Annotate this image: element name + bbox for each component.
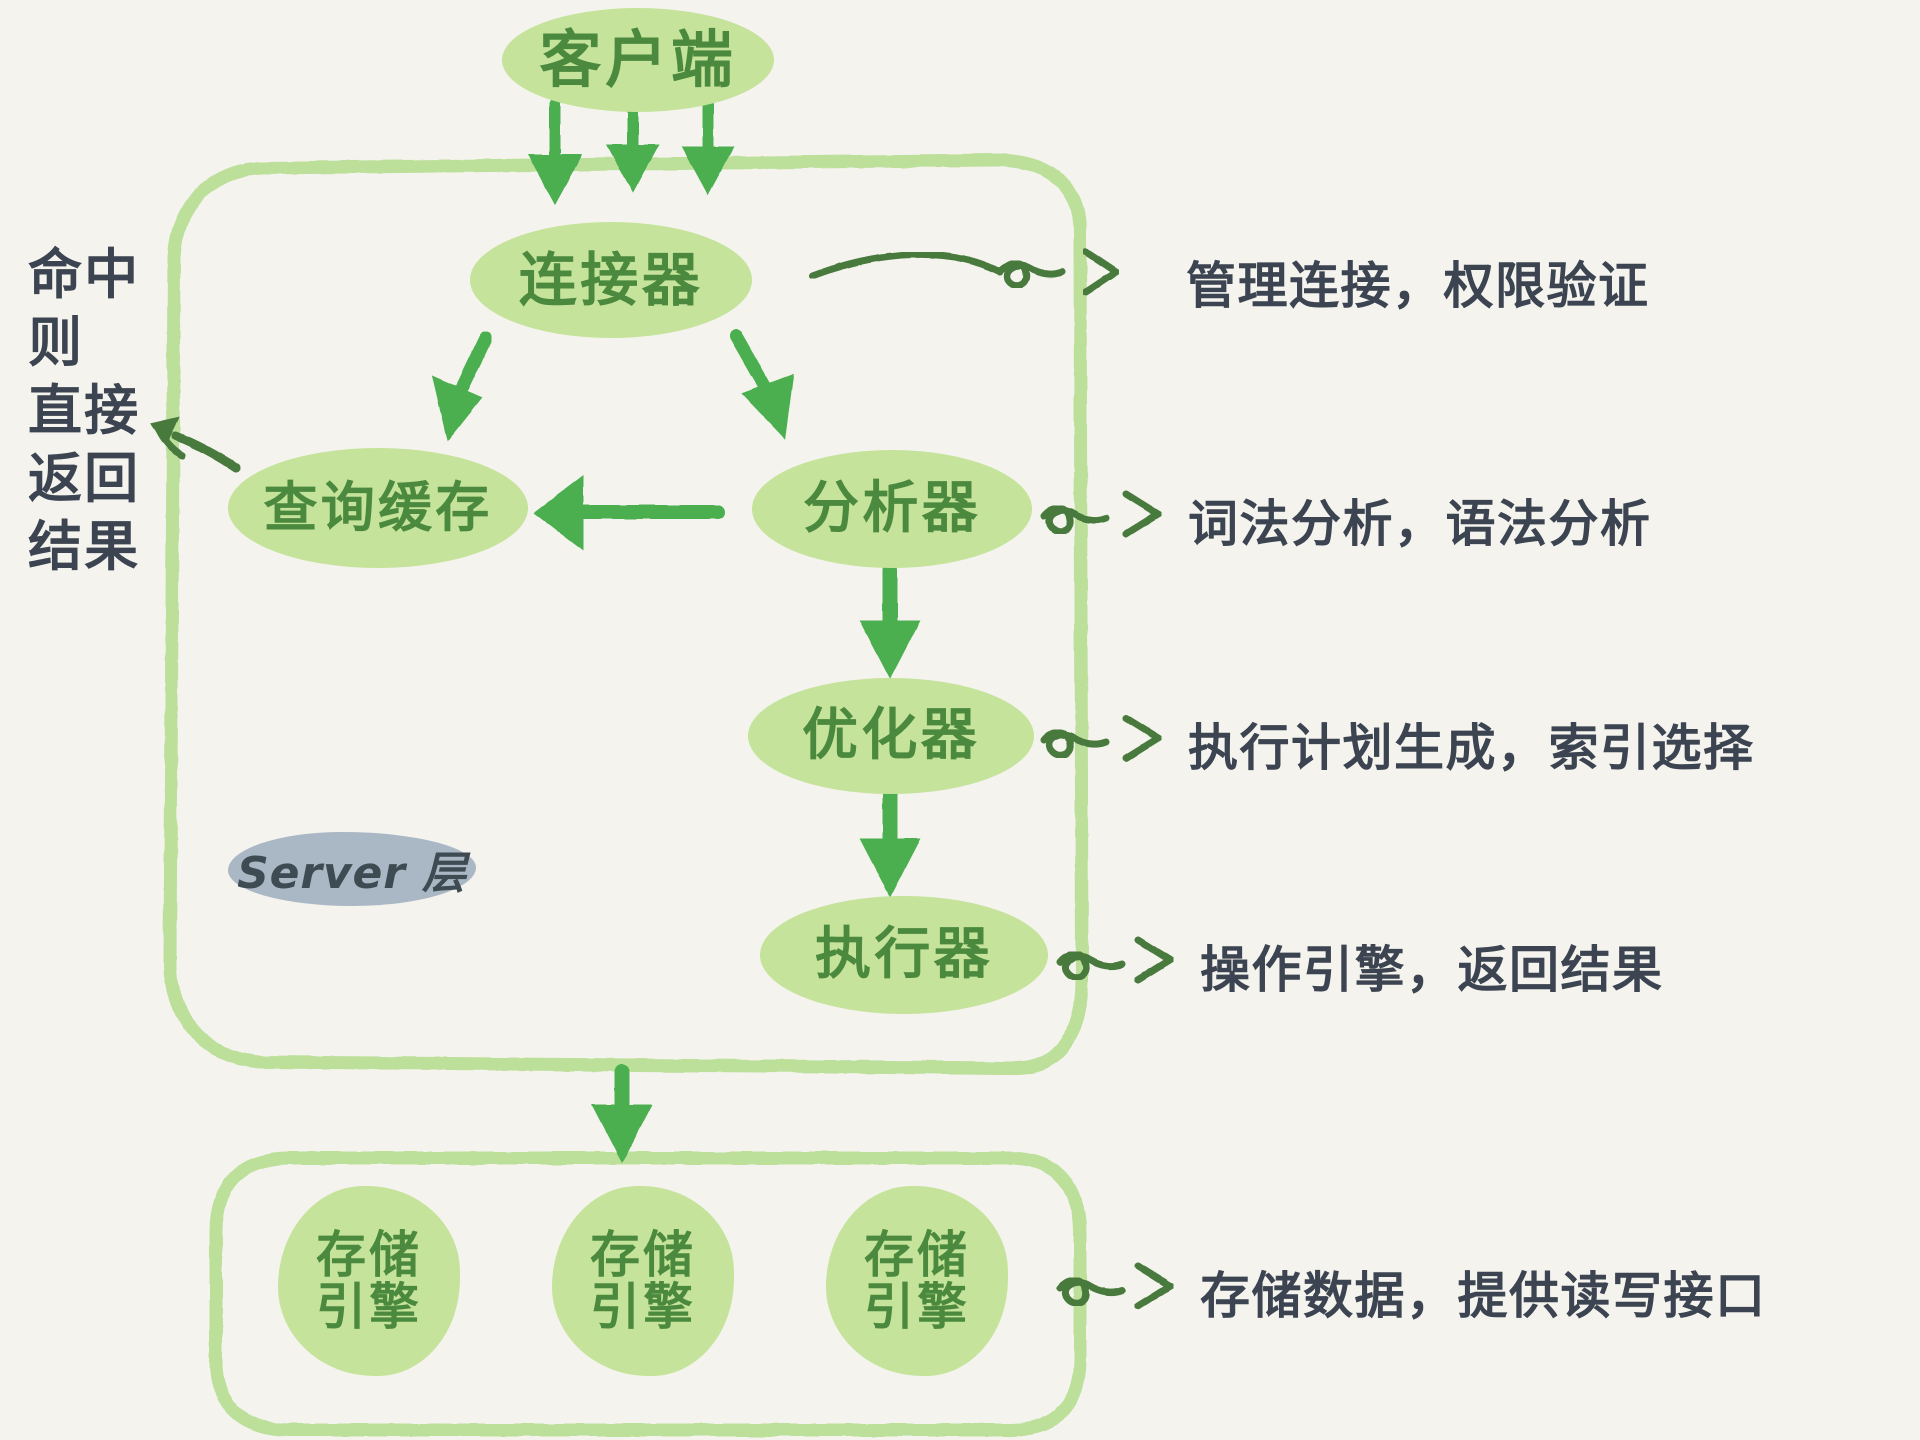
cache-hit-caption-line-2: 则 [28,316,148,370]
cache-hit-caption-line-3: 直接 [28,384,148,438]
node-analyzer[interactable]: 分析器 [752,450,1032,568]
node-executor[interactable]: 执行器 [760,896,1048,1014]
cache-hit-caption-line-5: 结果 [28,520,148,574]
server-layer-badge: Server 层 [228,832,476,906]
node-analyzer-label: 分析器 [803,480,981,539]
node-connector[interactable]: 连接器 [470,222,752,338]
node-storage-engine-2[interactable]: 存储 引擎 [552,1186,734,1376]
node-connector-label: 连接器 [519,250,703,311]
annotation-analyzer: 词法分析，语法分析 [1188,484,1652,556]
diagram-canvas: 客户端 连接器 查询缓存 分析器 优化器 执行器 Server 层 存储 引擎 … [0,0,1920,1440]
squiggle-arrow-connector [812,252,1116,292]
arrow-server-to-storage [594,1072,650,1160]
node-client[interactable]: 客户端 [502,8,774,112]
server-layer-badge-label: Server 层 [237,837,467,901]
node-storage-engine-1-label: 存储 引擎 [316,1229,422,1334]
node-query-cache[interactable]: 查询缓存 [228,448,528,568]
client-to-server-arrows [530,100,732,202]
cache-hit-caption: 命中 则 直接 返回 结果 [28,248,148,574]
arrow-optimizer-to-executor [862,790,918,894]
arrow-analyzer-to-cache [536,478,718,548]
squiggle-arrow-analyzer [1044,494,1158,534]
node-storage-engine-3[interactable]: 存储 引擎 [826,1186,1008,1376]
node-storage-engine-2-label: 存储 引擎 [590,1229,696,1334]
squiggle-arrow-optimizer [1044,718,1158,758]
arrow-cache-to-left-caption [152,418,236,468]
cache-hit-caption-line-4: 返回 [28,452,148,506]
annotation-optimizer: 执行计划生成，索引选择 [1188,708,1755,780]
arrow-connector-to-analyzer [736,336,792,436]
cache-hit-caption-line-1: 命中 [28,248,148,302]
node-executor-label: 执行器 [815,926,993,985]
arrow-connector-to-cache [434,338,486,438]
annotation-storage: 存储数据，提供读写接口 [1200,1256,1767,1328]
node-optimizer[interactable]: 优化器 [748,678,1034,794]
arrow-analyzer-to-optimizer [862,570,918,676]
node-optimizer-label: 优化器 [802,707,980,766]
node-client-label: 客户端 [539,27,736,92]
annotation-executor: 操作引擎，返回结果 [1200,930,1664,1002]
node-query-cache-label: 查询缓存 [264,480,493,537]
annotation-connector: 管理连接，权限验证 [1186,246,1650,318]
node-storage-engine-3-label: 存储 引擎 [864,1229,970,1334]
node-storage-engine-1[interactable]: 存储 引擎 [278,1186,460,1376]
